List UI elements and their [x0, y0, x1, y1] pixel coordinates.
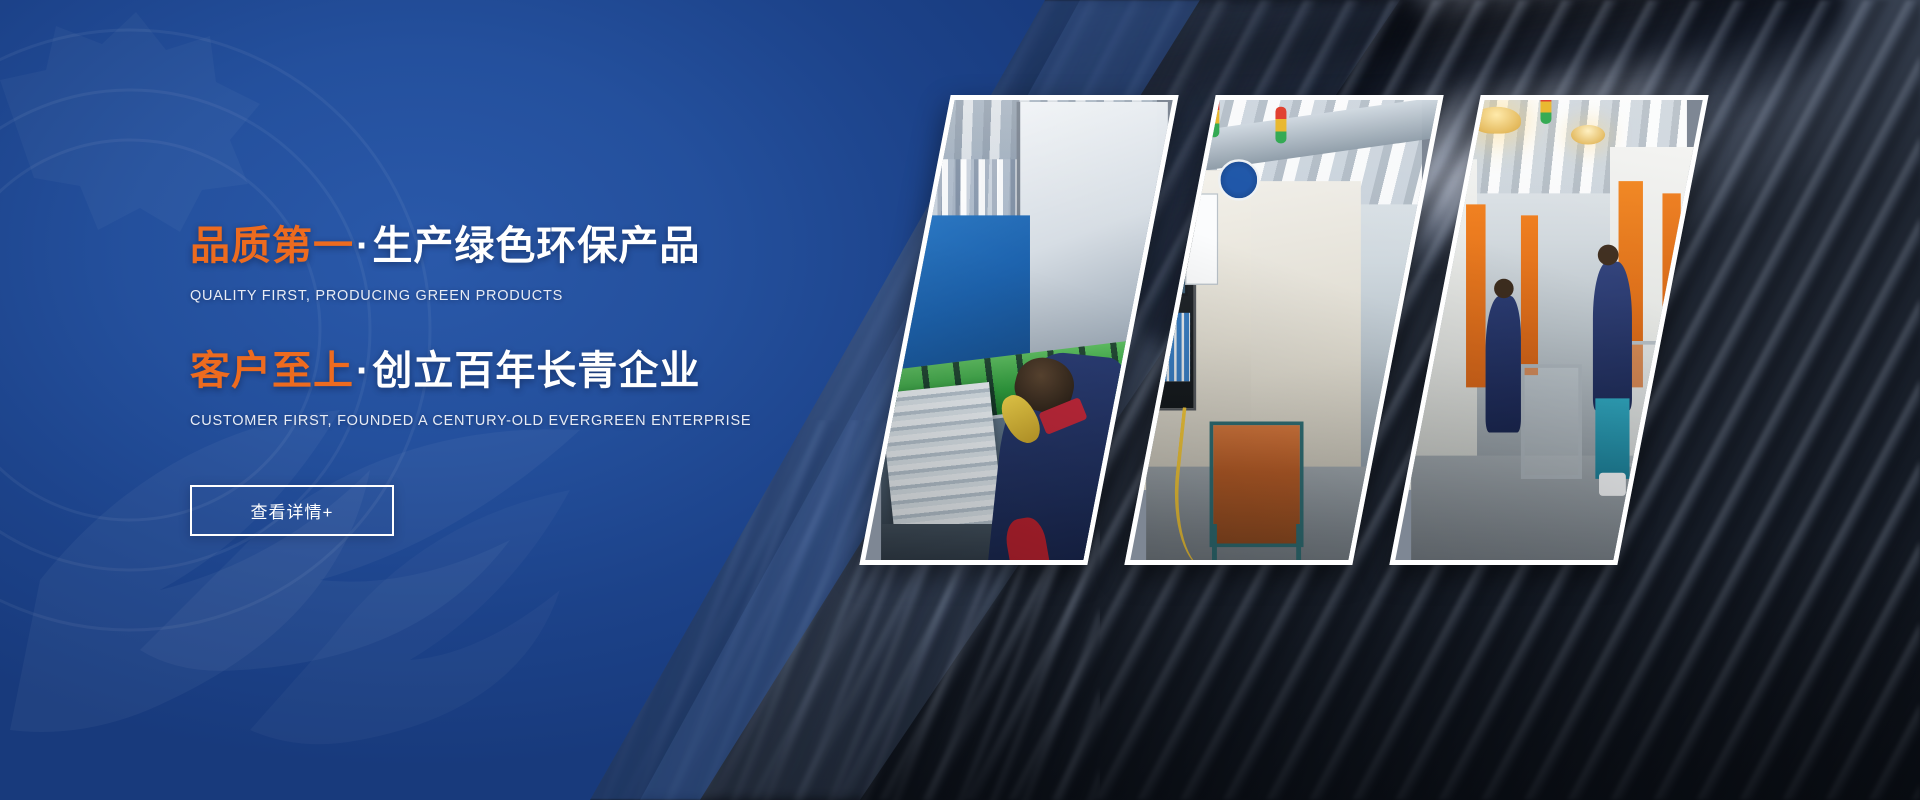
subtitle-2: CUSTOMER FIRST, FOUNDED A CENTURY-OLD EV… [190, 413, 910, 429]
hero-banner: 品质第一·生产绿色环保产品 QUALITY FIRST, PRODUCING G… [0, 0, 1920, 800]
view-details-button[interactable]: 查看详情+ [190, 485, 394, 536]
headline-2: 客户至上·创立百年长青企业 [190, 347, 910, 396]
photo-2-image [1146, 95, 1422, 565]
headline-spacer [190, 304, 910, 347]
photo-panel-3[interactable] [1389, 95, 1708, 565]
photo-1-image [881, 95, 1157, 565]
headline-2-accent: 客户至上 [190, 349, 354, 393]
subtitle-1: QUALITY FIRST, PRODUCING GREEN PRODUCTS [190, 288, 910, 304]
headline-1-accent: 品质第一 [190, 224, 354, 268]
hero-content: 品质第一·生产绿色环保产品 QUALITY FIRST, PRODUCING G… [190, 222, 910, 536]
photo-3-image [1411, 95, 1687, 565]
photo-panel-2[interactable] [1124, 95, 1443, 565]
headline-1-main: 生产绿色环保产品 [372, 224, 700, 268]
headline-1-separator: · [354, 224, 372, 268]
headline-1: 品质第一·生产绿色环保产品 [190, 222, 910, 271]
headline-2-separator: · [354, 349, 372, 393]
headline-2-main: 创立百年长青企业 [372, 349, 700, 393]
